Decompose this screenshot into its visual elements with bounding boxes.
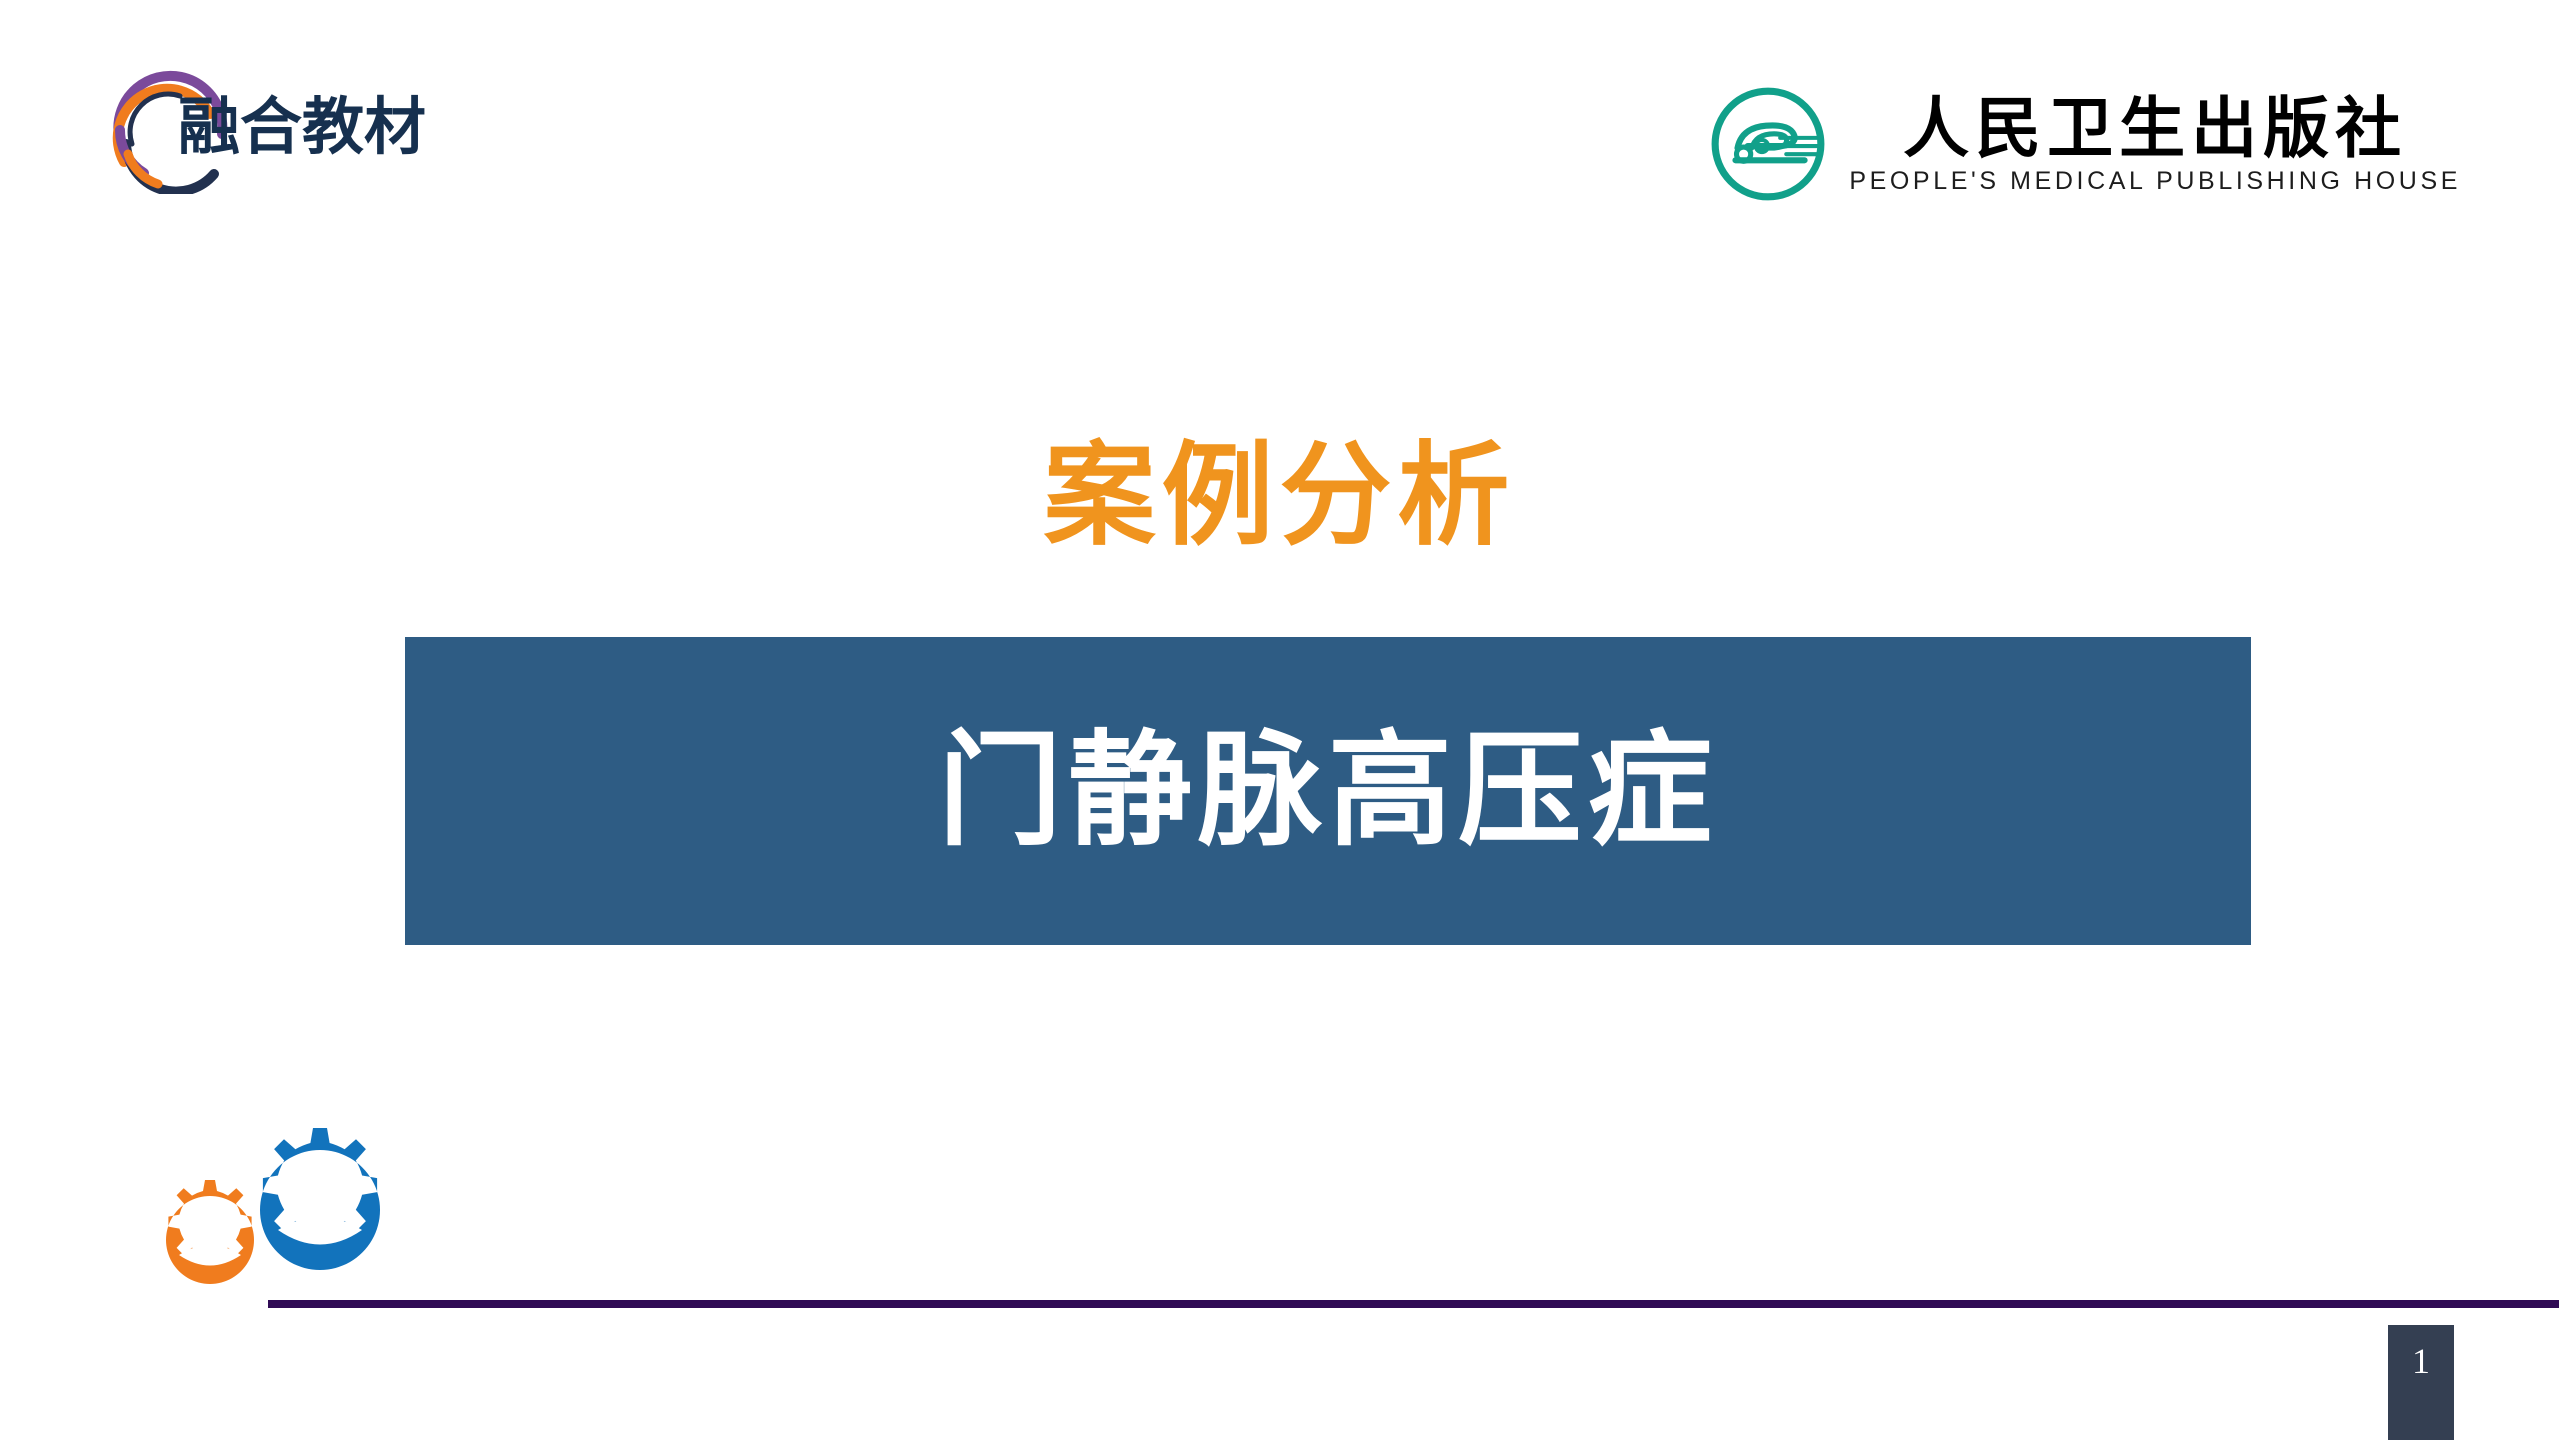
gears-decoration [140,1128,410,1308]
footer-divider [268,1300,2559,1308]
page-title: 案例分析 [0,440,2559,552]
pmph-wordmark: 人民卫生出版社 PEOPLE'S MEDICAL PUBLISHING HOUS… [1849,94,2461,194]
pmph-logo: 人民卫生出版社 PEOPLE'S MEDICAL PUBLISHING HOUS… [1707,78,2461,210]
pmph-english-name: PEOPLE'S MEDICAL PUBLISHING HOUSE [1849,169,2461,194]
slide-root: 融合教材 人民卫生出版社 PEOPLE'S MEDICAL PUBLISHING… [0,0,2559,1440]
pmph-emblem-icon [1707,83,1829,205]
title-banner: 门静脉高压症 [405,637,2251,945]
ronghe-jiaocai-label: 融合教材 [178,96,426,158]
page-number-label: 1 [2388,1343,2454,1379]
small-gear-icon [166,1180,254,1284]
large-gear-icon [260,1128,380,1270]
page-number-badge: 1 [2388,1325,2454,1440]
banner-title-label: 门静脉高压症 [938,729,1718,853]
ronghe-jiaocai-logo: 融合教材 [110,62,470,192]
pmph-chinese-name: 人民卫生出版社 [1903,94,2407,163]
